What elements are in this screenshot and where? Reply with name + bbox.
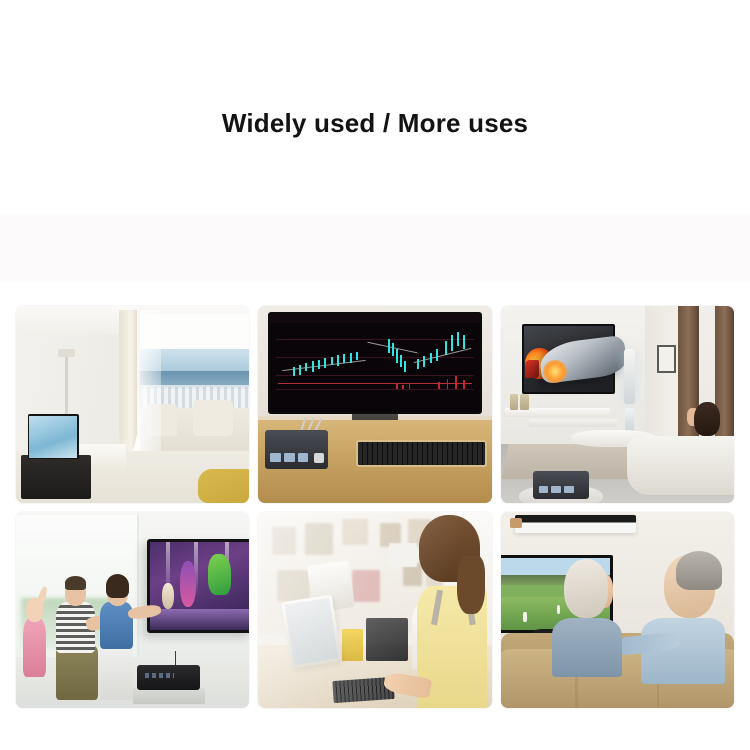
mini-pc-box [533, 471, 589, 499]
keyboard [356, 440, 487, 468]
bed-pillow [198, 469, 249, 502]
television [147, 539, 250, 633]
power-button [314, 453, 324, 463]
gallery-cell-living-room-3d-movie[interactable] [501, 306, 734, 503]
floor-lamp-base [625, 408, 633, 432]
gallery-cell-elderly-couple-tv[interactable] [501, 512, 734, 709]
usb-ports [539, 486, 574, 492]
decor-vase-1 [510, 394, 518, 410]
mini-pc-box [265, 430, 328, 469]
mother-hair [106, 574, 129, 598]
sofa [627, 436, 734, 495]
flame-glow [543, 360, 566, 383]
game-stage [150, 609, 250, 630]
chart-indicator-pane [276, 389, 474, 408]
usb-ports [270, 453, 308, 462]
chart-toolbar [270, 314, 481, 323]
patio-sofa [193, 400, 233, 435]
father-legs [56, 645, 98, 700]
gallery-cell-family-motion-gaming[interactable] [16, 512, 249, 709]
dance-game-scene [150, 542, 250, 630]
woman-torso [552, 618, 622, 677]
wall-panel-light [645, 306, 678, 447]
gallery-cell-bedroom-balcony[interactable] [16, 306, 249, 503]
desktop-monitor [268, 312, 483, 414]
scene-bedroom-balcony [16, 306, 249, 503]
page-title: Widely used / More uses [0, 108, 750, 139]
mother-torso [100, 602, 133, 649]
framed-picture [657, 345, 676, 373]
tv-stand [21, 455, 91, 498]
tv-pedestal [133, 688, 205, 704]
game-character-side [162, 583, 174, 609]
child-head [26, 598, 42, 622]
father-hair [65, 576, 86, 590]
man-hair [676, 551, 723, 590]
sheer-curtain [137, 310, 160, 455]
decor-vase-2 [520, 394, 528, 410]
tint-band-divider [0, 215, 750, 281]
wall-mounted-television [522, 324, 615, 395]
mother-legs [100, 641, 133, 700]
stock-chart-screen [270, 314, 481, 412]
scene-retail-pos-counter [258, 512, 491, 709]
racing-movie-scene [524, 326, 613, 393]
gallery-cell-retail-pos-counter[interactable] [258, 512, 491, 709]
wall-shelf-lower [529, 419, 618, 427]
floor-lamp [624, 349, 634, 404]
scene-family-motion-gaming [16, 512, 249, 709]
set-top-box [137, 665, 200, 691]
wall-bracket [510, 518, 522, 528]
scene-living-room-3d-movie [501, 306, 734, 503]
light-haze-overlay [258, 512, 491, 709]
child-body [23, 618, 46, 677]
red-car [525, 360, 539, 377]
status-leds [145, 673, 174, 678]
scene-elderly-couple-tv [501, 512, 734, 709]
usage-scenarios-gallery [16, 306, 734, 708]
woman-head [564, 559, 608, 618]
viewer-head [694, 402, 720, 435]
scene-stock-trading-desk [258, 306, 491, 503]
antenna [175, 651, 177, 665]
television [28, 414, 79, 459]
game-character-purple [180, 561, 196, 607]
page-header: Widely used / More uses [0, 0, 750, 215]
air-conditioner [515, 515, 636, 533]
gallery-cell-stock-trading-desk[interactable] [258, 306, 491, 503]
game-character-green [208, 554, 230, 595]
